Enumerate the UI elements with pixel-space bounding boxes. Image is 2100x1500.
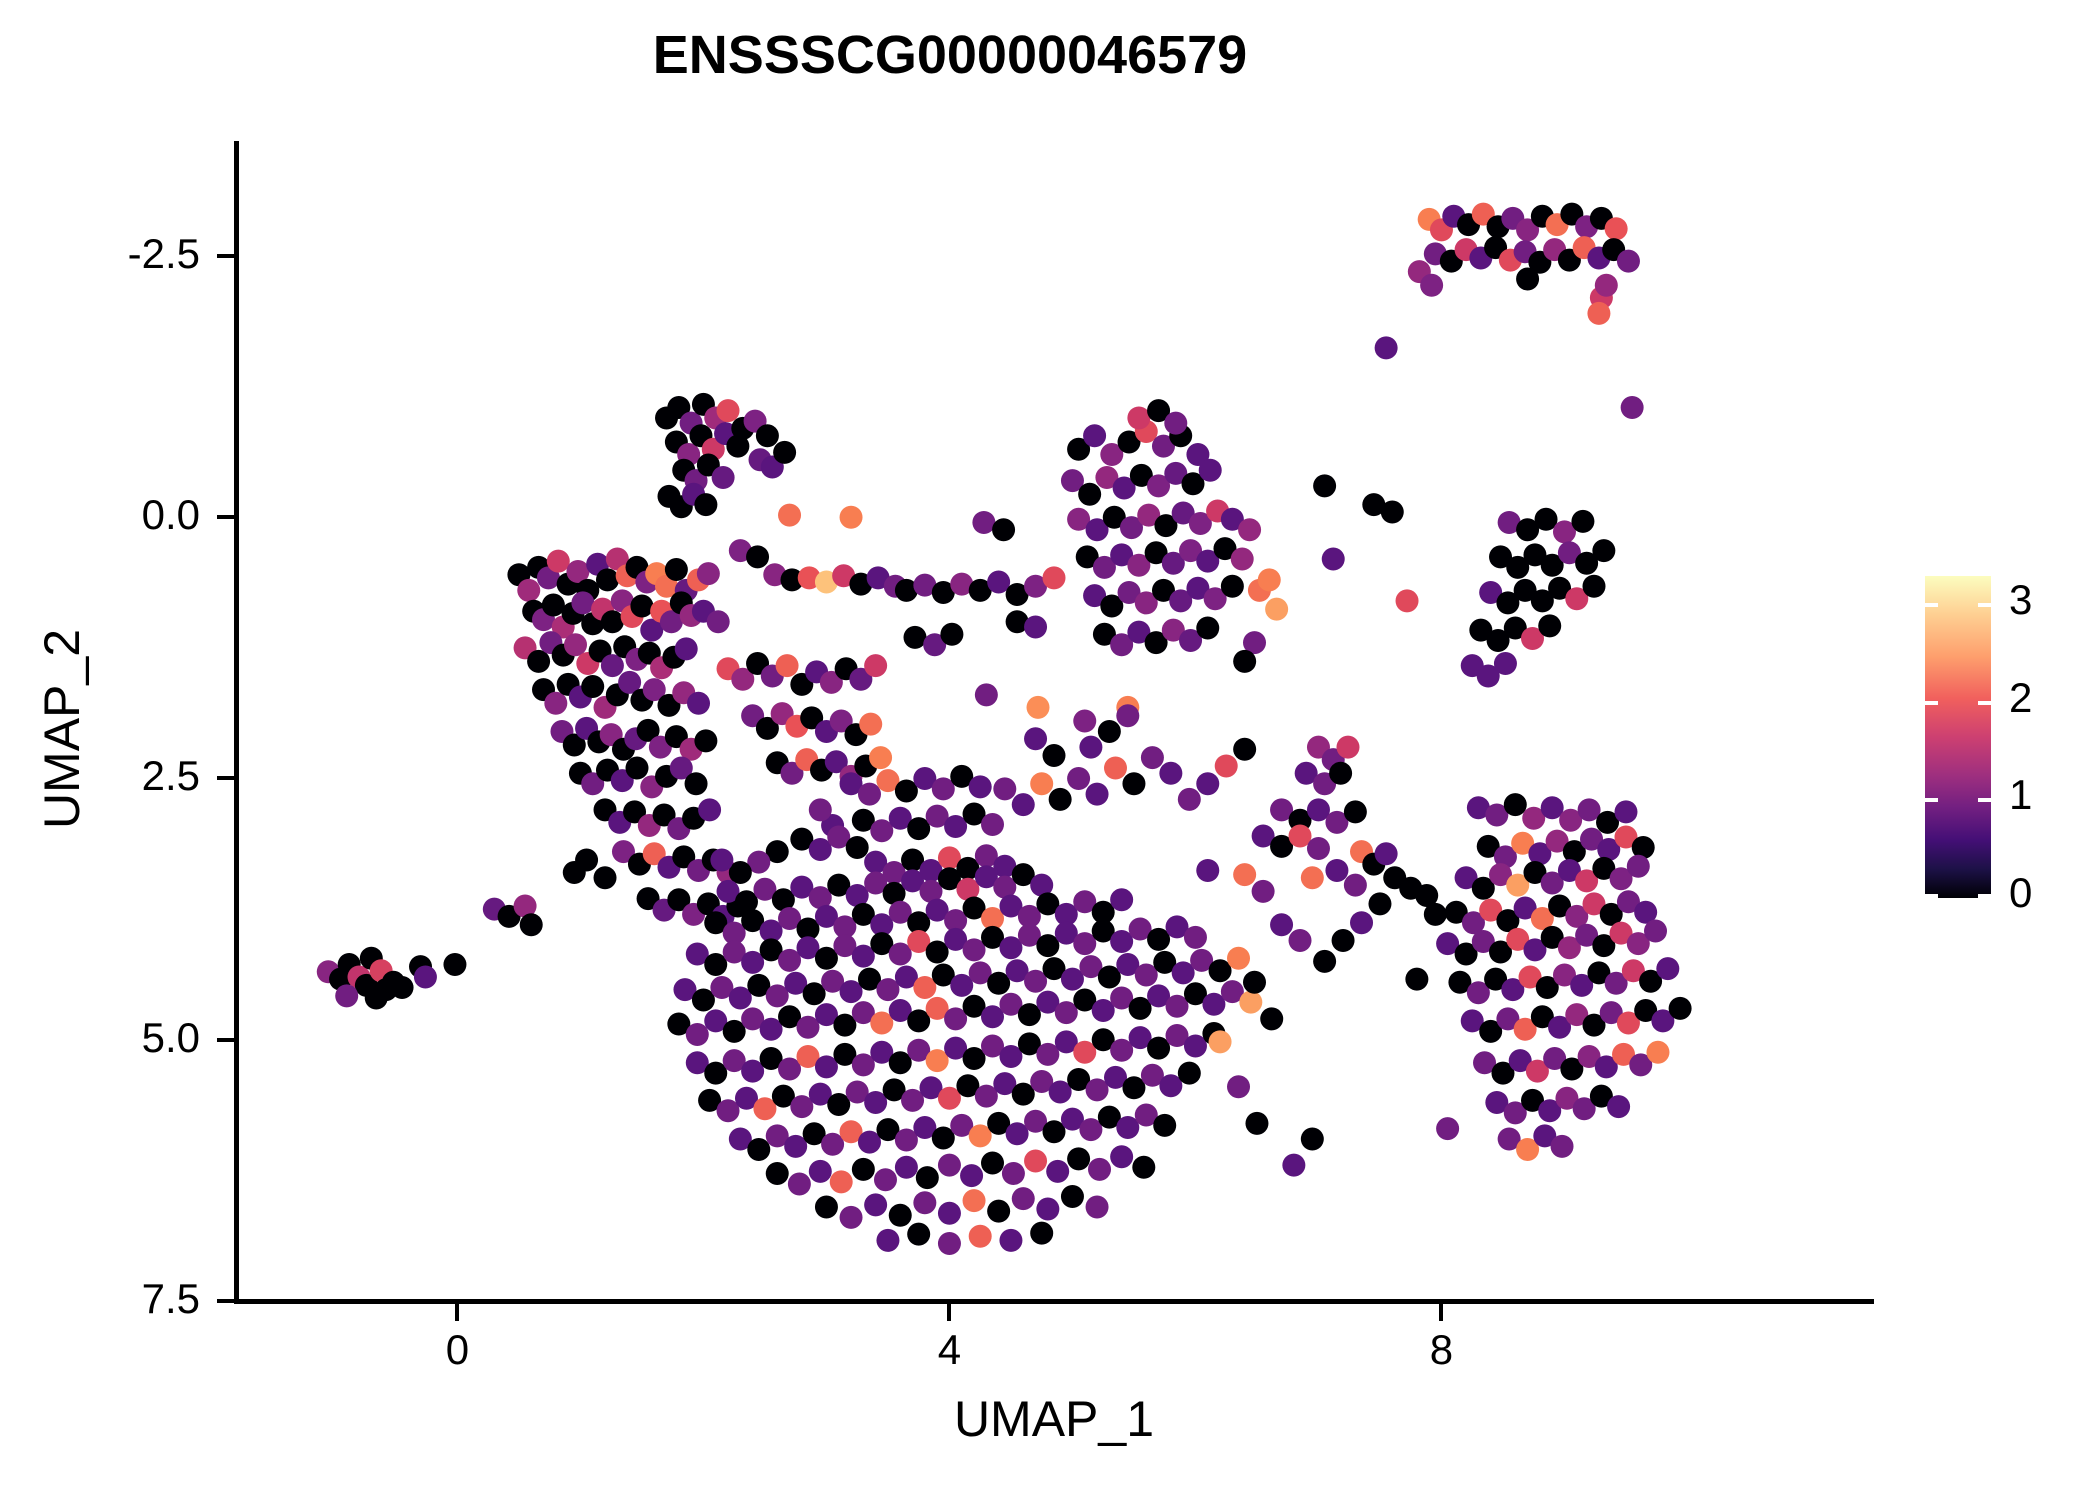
scatter-point (1196, 616, 1219, 639)
scatter-point (1178, 1062, 1201, 1085)
scatter-point (815, 1195, 838, 1218)
scatter-point (1270, 913, 1293, 936)
scatter-point (981, 1152, 1004, 1175)
scatter-point (859, 713, 882, 736)
scatter-point (1669, 997, 1692, 1020)
y-tick-mark (217, 776, 234, 780)
x-axis-line (234, 1299, 1874, 1304)
scatter-point (1313, 474, 1336, 497)
scatter-point (1067, 767, 1090, 790)
legend-tick-mark (1978, 701, 1991, 705)
scatter-point (517, 579, 540, 602)
scatter-point (776, 654, 799, 677)
scatter-point (1614, 800, 1637, 823)
scatter-point (391, 976, 414, 999)
color-legend-gradient-bar (1925, 576, 1991, 898)
scatter-point (975, 683, 998, 706)
scatter-point (1252, 880, 1275, 903)
scatter-point (938, 1154, 961, 1177)
scatter-point (1595, 274, 1618, 297)
scatter-point (1538, 614, 1561, 637)
scatter-point (710, 848, 733, 871)
scatter-point (520, 913, 543, 936)
y-tick-mark (217, 1038, 234, 1042)
scatter-point (365, 986, 388, 1009)
scatter-point (830, 1170, 853, 1193)
scatter-point (1030, 1222, 1053, 1245)
scatter-point (1282, 1154, 1305, 1177)
scatter-point (698, 798, 721, 821)
scatter-point (747, 1138, 770, 1161)
scatter-point (1086, 783, 1109, 806)
scatter-point (685, 772, 708, 795)
scatter-point (1049, 788, 1072, 811)
scatter-point (1656, 957, 1679, 980)
chart-canvas: ENSSSCG00000046579 7.55.02.50.0-2.5 048 … (0, 0, 2100, 1500)
scatter-point (938, 1202, 961, 1225)
scatter-point (766, 1162, 789, 1185)
scatter-point (1307, 837, 1330, 860)
scatter-point (1083, 424, 1106, 447)
y-tick-mark (217, 254, 234, 258)
scatter-point (1164, 412, 1187, 435)
scatter-point (1322, 548, 1345, 571)
scatter-point (1551, 1135, 1574, 1158)
scatter-point (581, 675, 604, 698)
scatter-point (940, 623, 963, 646)
scatter-point (1110, 888, 1133, 911)
scatter-point (1227, 947, 1250, 970)
scatter-point (626, 757, 649, 780)
scatter-point (707, 610, 730, 633)
x-tick-label: 4 (889, 1326, 1009, 1374)
scatter-point (1012, 1187, 1035, 1210)
scatter-point (1325, 859, 1348, 882)
legend-tick-label: 2 (2009, 677, 2032, 719)
scatter-point (1344, 874, 1367, 897)
scatter-point (1405, 968, 1428, 991)
scatter-point (1043, 566, 1066, 589)
scatter-point (1196, 859, 1219, 882)
scatter-point (1239, 991, 1262, 1014)
scatter-point (1088, 1158, 1111, 1181)
scatter-point (601, 654, 624, 677)
y-tick-label: 0.0 (0, 491, 200, 539)
legend-tick-label: 1 (2009, 774, 2032, 816)
scatter-point (1313, 950, 1336, 973)
scatter-point (876, 1229, 899, 1252)
scatter-point (874, 1168, 897, 1191)
scatter-point (1646, 1041, 1669, 1064)
scatter-point (1159, 762, 1182, 785)
scatter-point (840, 1206, 863, 1229)
scatter-points-layer (0, 0, 2100, 1500)
scatter-point (717, 399, 740, 422)
scatter-point (1592, 539, 1615, 562)
scatter-point (992, 518, 1015, 541)
scatter-point (1122, 772, 1145, 795)
scatter-point (1116, 704, 1139, 727)
scatter-point (1061, 1185, 1084, 1208)
y-axis-title: UMAP_2 (33, 379, 91, 1079)
scatter-point (987, 1200, 1010, 1223)
scatter-point (1046, 1160, 1069, 1183)
scatter-point (675, 637, 698, 660)
scatter-point (1233, 863, 1256, 886)
scatter-point (904, 626, 927, 649)
legend-tick-label: 0 (2009, 872, 2032, 914)
scatter-point (1233, 650, 1256, 673)
y-axis-line (234, 141, 239, 1304)
scatter-point (687, 692, 710, 715)
scatter-point (1587, 302, 1610, 325)
legend-tick-mark (1925, 894, 1938, 898)
scatter-point (694, 729, 717, 752)
scatter-point (969, 1225, 992, 1248)
scatter-point (1289, 929, 1312, 952)
scatter-point (1231, 548, 1254, 571)
scatter-point (1024, 727, 1047, 750)
x-tick-label: 0 (397, 1326, 517, 1374)
scatter-point (1301, 1128, 1324, 1151)
scatter-point (1260, 1007, 1283, 1030)
scatter-point (972, 511, 995, 534)
scatter-point (1043, 744, 1066, 767)
scatter-point (1233, 738, 1256, 761)
scatter-point (1415, 884, 1438, 907)
scatter-point (335, 984, 358, 1007)
scatter-point (1098, 720, 1121, 743)
scatter-point (1215, 754, 1238, 777)
x-tick-label: 8 (1381, 1326, 1501, 1374)
scatter-point (1504, 793, 1527, 816)
scatter-point (1030, 772, 1053, 795)
scatter-point (773, 441, 796, 464)
plot-panel: 7.55.02.50.0-2.5 048 UMAP_1 UMAP_2 (0, 0, 2100, 1500)
scatter-point (778, 504, 801, 527)
scatter-point (963, 1189, 986, 1212)
scatter-point (1141, 746, 1164, 769)
scatter-point (1368, 892, 1391, 915)
scatter-point (1024, 1149, 1047, 1172)
scatter-point (665, 558, 688, 581)
scatter-point (1381, 500, 1404, 523)
scatter-point (1024, 615, 1047, 638)
scatter-point (1078, 483, 1101, 506)
scatter-point (809, 1160, 832, 1183)
scatter-point (686, 1023, 709, 1046)
scatter-point (746, 545, 769, 568)
scatter-point (907, 1223, 930, 1246)
scatter-point (1227, 1075, 1250, 1098)
scatter-point (1245, 1112, 1268, 1135)
scatter-point (864, 654, 887, 677)
scatter-point (1243, 971, 1266, 994)
x-tick-mark (947, 1304, 951, 1321)
y-tick-mark (217, 515, 234, 519)
scatter-point (1086, 1195, 1109, 1218)
scatter-point (1644, 920, 1667, 943)
scatter-point (1332, 929, 1355, 952)
scatter-point (1375, 842, 1398, 865)
scatter-point (544, 692, 567, 715)
scatter-point (1027, 696, 1050, 719)
scatter-point (1036, 1198, 1059, 1221)
scatter-point (1002, 1162, 1025, 1185)
scatter-point (1627, 855, 1650, 878)
x-tick-mark (455, 1304, 459, 1321)
legend-tick-mark (1925, 603, 1938, 607)
scatter-point (630, 595, 653, 618)
scatter-point (1209, 1030, 1232, 1053)
scatter-point (916, 1166, 939, 1189)
legend-tick-mark (1978, 798, 1991, 802)
scatter-point (1132, 1156, 1155, 1179)
y-tick-label: 5.0 (0, 1014, 200, 1062)
scatter-point (1153, 1114, 1176, 1137)
scatter-point (527, 650, 550, 673)
scatter-point (864, 1193, 887, 1216)
scatter-point (1073, 710, 1096, 733)
scatter-point (564, 633, 587, 656)
scatter-point (1621, 396, 1644, 419)
scatter-point (993, 777, 1016, 800)
scatter-point (1238, 518, 1261, 541)
scatter-point (1199, 459, 1222, 482)
y-tick-label: 2.5 (0, 752, 200, 800)
scatter-point (1344, 800, 1367, 823)
scatter-point (1436, 1117, 1459, 1140)
scatter-point (1583, 575, 1606, 598)
scatter-point (1301, 866, 1324, 889)
scatter-point (1494, 652, 1517, 675)
scatter-point (1258, 568, 1281, 591)
scatter-point (1265, 598, 1288, 621)
scatter-point (1079, 736, 1102, 759)
scatter-point (1067, 1147, 1090, 1170)
scatter-point (840, 506, 863, 529)
scatter-point (999, 1229, 1022, 1252)
scatter-point (889, 1204, 912, 1227)
scatter-point (547, 550, 570, 573)
scatter-point (869, 746, 892, 769)
scatter-point (1571, 510, 1594, 533)
scatter-point (938, 1232, 961, 1255)
scatter-point (542, 594, 565, 617)
scatter-point (809, 798, 832, 821)
scatter-point (846, 836, 869, 859)
legend-tick-label: 3 (2009, 579, 2032, 621)
scatter-point (981, 813, 1004, 836)
color-legend: 3210 (1925, 576, 2085, 906)
scatter-point (1516, 267, 1539, 290)
scatter-point (1184, 926, 1207, 949)
scatter-point (913, 1191, 936, 1214)
scatter-point (571, 591, 594, 614)
scatter-point (1617, 250, 1640, 273)
scatter-point (1127, 406, 1150, 429)
legend-tick-mark (1978, 603, 1991, 607)
scatter-point (1396, 589, 1419, 612)
scatter-point (1420, 274, 1443, 297)
scatter-point (788, 1172, 811, 1195)
scatter-point (414, 966, 437, 989)
scatter-point (1196, 772, 1219, 795)
scatter-point (960, 1164, 983, 1187)
scatter-point (596, 568, 619, 591)
scatter-point (969, 775, 992, 798)
y-tick-mark (217, 1299, 234, 1303)
scatter-point (1221, 575, 1244, 598)
y-tick-label: 7.5 (0, 1275, 200, 1323)
legend-tick-mark (1925, 701, 1938, 705)
scatter-point (697, 562, 720, 585)
scatter-point (1350, 911, 1373, 934)
scatter-point (443, 953, 466, 976)
scatter-point (895, 1156, 918, 1179)
scatter-point (1375, 336, 1398, 359)
scatter-point (1110, 1145, 1133, 1168)
scatter-point (1336, 736, 1359, 759)
scatter-point (1012, 793, 1035, 816)
scatter-point (1607, 1095, 1630, 1118)
scatter-point (1329, 762, 1352, 785)
scatter-point (756, 424, 779, 447)
scatter-point (712, 466, 735, 489)
scatter-point (694, 493, 717, 516)
scatter-point (1178, 788, 1201, 811)
scatter-point (1605, 217, 1628, 240)
scatter-point (1104, 757, 1127, 780)
legend-tick-mark (1978, 894, 1991, 898)
scatter-point (852, 1158, 875, 1181)
legend-tick-mark (1925, 798, 1938, 802)
x-tick-mark (1439, 1304, 1443, 1321)
scatter-point (563, 861, 586, 884)
y-tick-label: -2.5 (0, 230, 200, 278)
x-axis-title: UMAP_1 (234, 1390, 1874, 1448)
scatter-point (594, 866, 617, 889)
scatter-point (601, 610, 624, 633)
scatter-point (858, 783, 881, 806)
